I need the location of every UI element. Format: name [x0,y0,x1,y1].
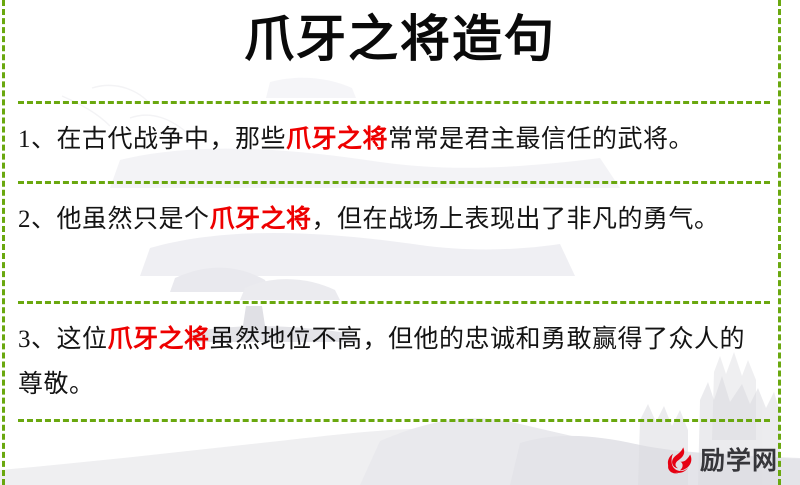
sentence-2-index: 2、 [18,206,57,233]
sentence-3-index: 3、 [18,326,57,353]
sentence-1-keyword: 爪牙之将 [286,124,388,153]
separator-after-sentence-2 [18,301,770,304]
site-logo-text: 励学网 [700,448,778,473]
separator-after-sentence-1 [18,181,770,184]
ink-wash-watermark [0,0,800,485]
slide-canvas: 爪牙之将造句 1、在古代战争中，那些爪牙之将常常是君主最信任的武将。 2、他虽然… [0,0,800,485]
sentence-3-before: 这位 [57,326,108,353]
frame-left-border [2,0,5,485]
sentence-1-index: 1、 [18,126,57,153]
site-logo[interactable]: 励学网 [664,443,778,477]
sentence-1-before: 在古代战争中，那些 [57,126,287,153]
page-title-text: 爪牙之将造句 [244,8,556,71]
sentence-item-2: 2、他虽然只是个爪牙之将，但在战场上表现出了非凡的勇气。 [18,197,770,243]
page-title: 爪牙之将造句 [0,8,800,71]
frame-right-border [778,0,781,485]
sentence-item-3: 3、这位爪牙之将虽然地位不高，但他的忠诚和勇敢赢得了众人的尊敬。 [18,317,770,407]
sentence-2-before: 他虽然只是个 [57,206,210,233]
sentence-item-1: 1、在古代战争中，那些爪牙之将常常是君主最信任的武将。 [18,117,770,163]
separator-below-title [18,101,770,104]
separator-after-sentence-3 [18,419,770,422]
sentence-1-after: 常常是君主最信任的武将。 [388,126,694,153]
sentence-2-keyword: 爪牙之将 [210,204,312,233]
flame-swirl-icon [664,445,695,476]
sentence-3-keyword: 爪牙之将 [108,324,210,353]
sentence-2-after: ，但在战场上表现出了非凡的勇气。 [312,206,720,233]
